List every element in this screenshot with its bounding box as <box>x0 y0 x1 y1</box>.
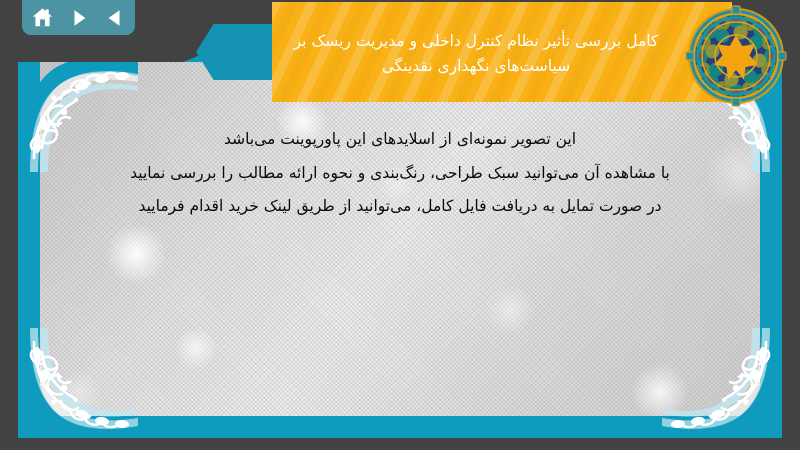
body-line-1: این تصویر نمونه‌ای از اسلایدهای این پاور… <box>60 132 740 148</box>
islamic-medallion-icon <box>684 4 788 108</box>
arrow-right-icon <box>68 7 90 29</box>
forward-button[interactable] <box>65 4 92 31</box>
navigation-bar <box>22 0 135 35</box>
slide-viewer: کامل بررسی تأثیر نظام کنترل داخلی و مدیر… <box>0 0 800 450</box>
arrow-left-icon <box>104 7 126 29</box>
slide-body: این تصویر نمونه‌ای از اسلایدهای این پاور… <box>60 132 740 215</box>
home-icon <box>31 6 54 29</box>
slide-canvas <box>40 62 760 416</box>
home-button[interactable] <box>29 4 56 31</box>
slide-title: کامل بررسی تأثیر نظام کنترل داخلی و مدیر… <box>250 2 702 106</box>
body-line-2: با مشاهده آن می‌توانید سبک طراحی، رنگ‌بن… <box>60 166 740 182</box>
body-line-3: در صورت تمایل به دریافت فایل کامل، می‌تو… <box>60 199 740 215</box>
back-button[interactable] <box>101 4 128 31</box>
